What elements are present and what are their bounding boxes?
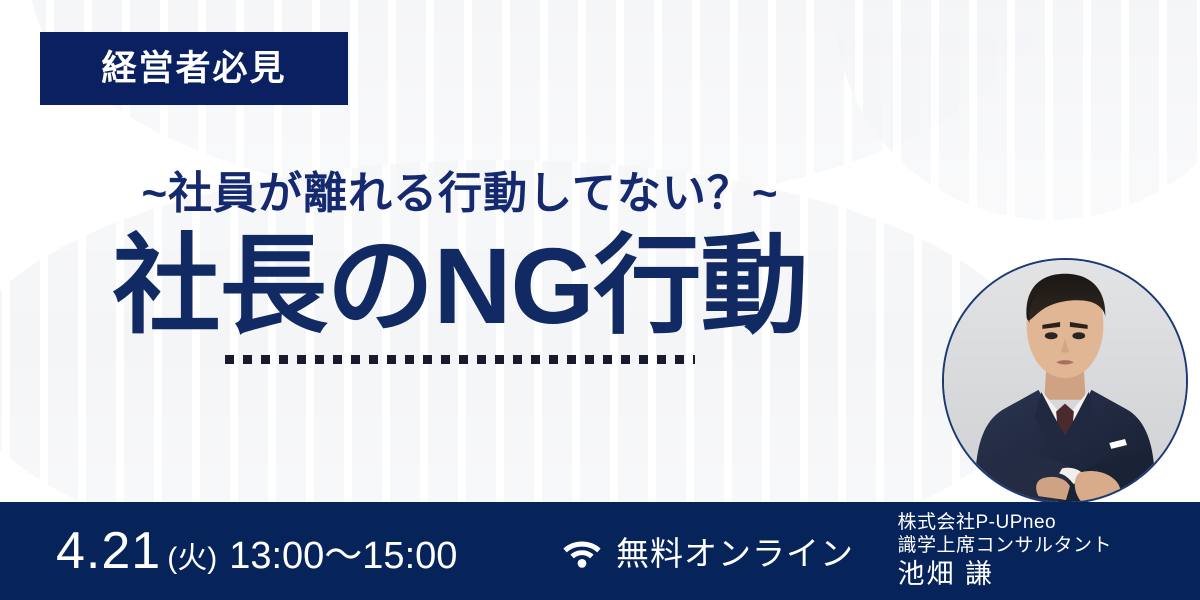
event-time: 13:00〜15:00: [229, 524, 457, 579]
wifi-icon: [562, 534, 602, 568]
title-dotted-underline: [225, 355, 695, 364]
headline-block: ~社員が離れる行動してない？~ 社長のNG行動: [0, 170, 920, 364]
speaker-role: 識学上席コンサルタント: [897, 534, 1112, 557]
speaker-info: 株式会社P-UPneo 識学上席コンサルタント 池畑 謙: [897, 511, 1112, 591]
online-format: 無料オンライン: [562, 527, 854, 575]
event-date: 4.21: [56, 521, 161, 581]
seminar-title: 社長のNG行動: [0, 224, 920, 348]
audience-badge: 経営者必見: [40, 32, 348, 105]
webinar-banner: 経営者必見 ~社員が離れる行動してない？~ 社長のNG行動: [0, 0, 1200, 600]
speaker-portrait: [942, 258, 1188, 504]
audience-badge-label: 経営者必見: [101, 51, 286, 86]
online-format-label: 無料オンライン: [616, 527, 854, 575]
event-info-bar: 4.21 (火) 13:00〜15:00 無料オンライン 株式会社P-UPneo…: [0, 502, 1200, 600]
event-weekday: (火): [167, 533, 217, 577]
seminar-subtitle: ~社員が離れる行動してない？~: [0, 170, 920, 218]
speaker-company: 株式会社P-UPneo: [897, 511, 1112, 534]
speaker-name: 池畑 謙: [897, 558, 1112, 591]
portrait-illustration: [944, 260, 1186, 502]
event-datetime: 4.21 (火) 13:00〜15:00: [56, 521, 457, 581]
